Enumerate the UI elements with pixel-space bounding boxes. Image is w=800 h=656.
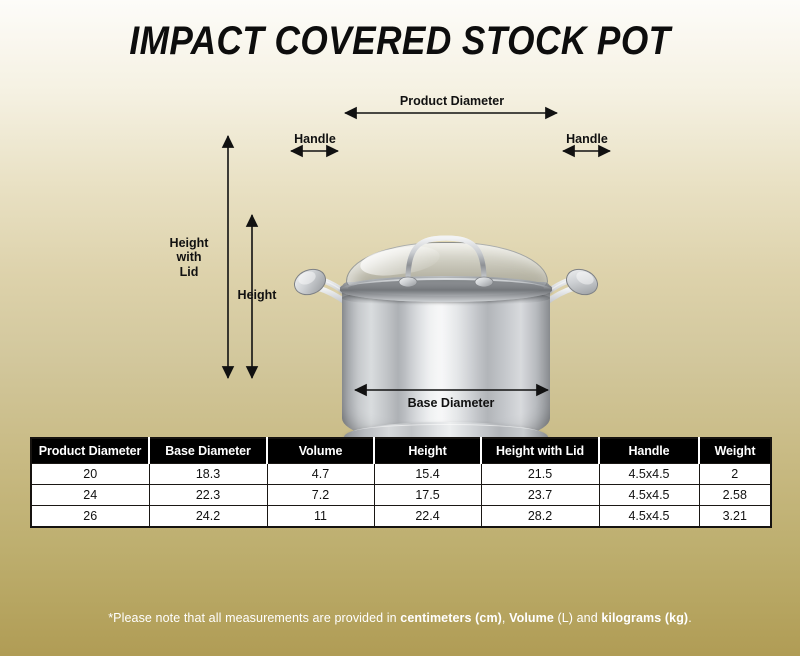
table-header-row: Product Diameter Base Diameter Volume He…: [31, 438, 771, 464]
column-header-volume: Volume: [267, 438, 374, 464]
cell-base-diameter: 22.3: [149, 485, 267, 506]
column-header-base-diameter: Base Diameter: [149, 438, 267, 464]
label-handle-right: Handle: [556, 132, 618, 146]
label-product-diameter: Product Diameter: [392, 94, 512, 108]
cell-base-diameter: 24.2: [149, 506, 267, 528]
cell-volume: 4.7: [267, 464, 374, 485]
label-height: Height: [228, 288, 286, 302]
table-row: 20 18.3 4.7 15.4 21.5 4.5x4.5 2: [31, 464, 771, 485]
page-title: IMPACT COVERED STOCK POT: [48, 19, 752, 64]
table-row: 26 24.2 11 22.4 28.2 4.5x4.5 3.21: [31, 506, 771, 528]
cell-weight: 2.58: [699, 485, 771, 506]
column-header-handle: Handle: [599, 438, 699, 464]
cell-weight: 3.21: [699, 506, 771, 528]
cell-height-with-lid: 23.7: [481, 485, 599, 506]
column-header-height: Height: [374, 438, 481, 464]
footnote-bold-kilograms: kilograms (kg): [601, 611, 688, 625]
stock-pot-illustration: [296, 230, 596, 462]
cell-base-diameter: 18.3: [149, 464, 267, 485]
specifications-table: Product Diameter Base Diameter Volume He…: [30, 437, 770, 528]
spec-sheet: IMPACT COVERED STOCK POT: [0, 0, 800, 656]
footnote-part-3: (L) and: [554, 611, 601, 625]
column-header-height-with-lid: Height with Lid: [481, 438, 599, 464]
cell-volume: 11: [267, 506, 374, 528]
label-height-with-lid-line3: Lid: [180, 265, 199, 279]
cell-height: 17.5: [374, 485, 481, 506]
label-handle-left: Handle: [284, 132, 346, 146]
cell-product-diameter: 20: [31, 464, 149, 485]
column-header-weight: Weight: [699, 438, 771, 464]
cell-handle: 4.5x4.5: [599, 506, 699, 528]
footnote-bold-volume: Volume: [509, 611, 554, 625]
footnote-part-1: *Please note that all measurements are p…: [108, 611, 400, 625]
cell-height: 15.4: [374, 464, 481, 485]
label-height-with-lid: Height with Lid: [155, 236, 223, 279]
cell-volume: 7.2: [267, 485, 374, 506]
product-diagram: [0, 80, 800, 420]
lid-loop-handle: [296, 230, 596, 462]
label-base-diameter: Base Diameter: [396, 396, 506, 410]
cell-handle: 4.5x4.5: [599, 464, 699, 485]
cell-product-diameter: 24: [31, 485, 149, 506]
footnote-part-4: .: [688, 611, 692, 625]
label-height-with-lid-line1: Height: [170, 236, 209, 250]
footnote-part-2: ,: [502, 611, 509, 625]
table-row: 24 22.3 7.2 17.5 23.7 4.5x4.5 2.58: [31, 485, 771, 506]
column-header-product-diameter: Product Diameter: [31, 438, 149, 464]
cell-product-diameter: 26: [31, 506, 149, 528]
measurement-units-note: *Please note that all measurements are p…: [0, 611, 800, 625]
footnote-bold-centimeters: centimeters (cm): [400, 611, 502, 625]
cell-handle: 4.5x4.5: [599, 485, 699, 506]
cell-height-with-lid: 21.5: [481, 464, 599, 485]
cell-height: 22.4: [374, 506, 481, 528]
cell-weight: 2: [699, 464, 771, 485]
label-height-with-lid-line2: with: [177, 250, 202, 264]
cell-height-with-lid: 28.2: [481, 506, 599, 528]
